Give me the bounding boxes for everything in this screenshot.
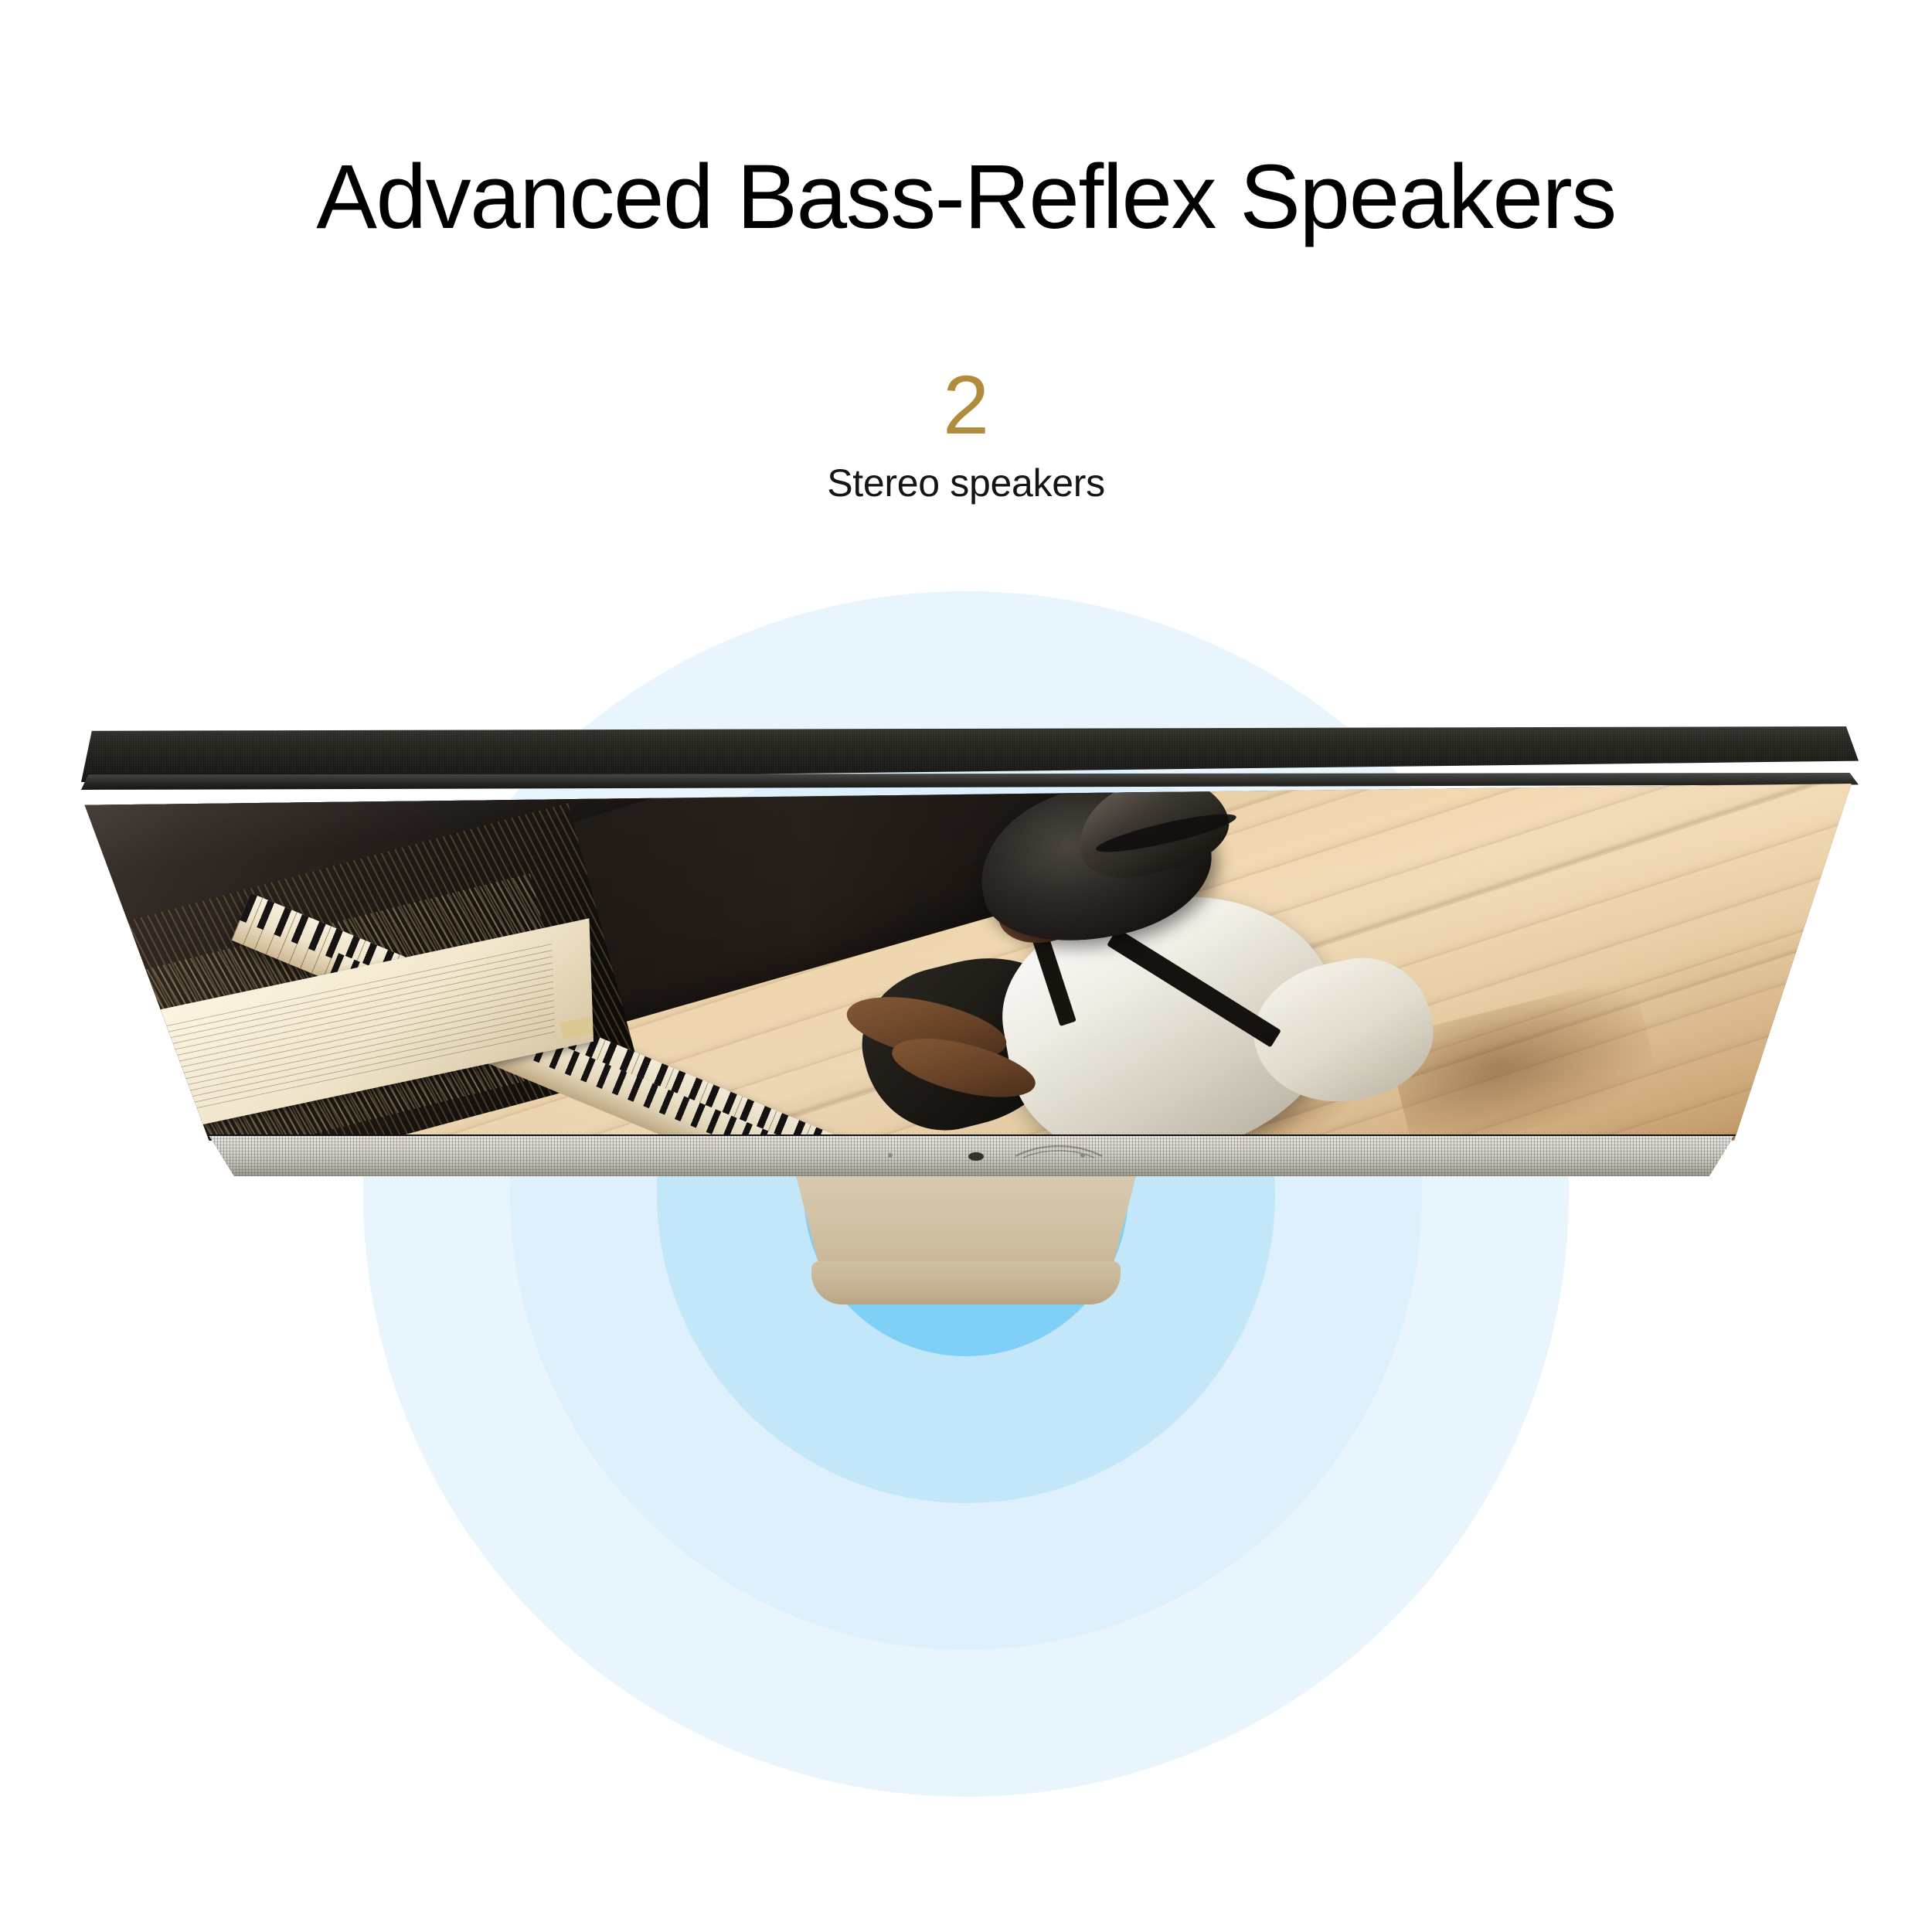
display-screen	[81, 784, 1859, 1141]
power-indicator-icon	[968, 1152, 984, 1161]
microphone-pinhole-right-icon	[1080, 1153, 1085, 1158]
all-in-one-monitor	[0, 0, 1932, 1932]
screen-content-piano-scene	[81, 784, 1859, 1141]
monitor-panel	[81, 726, 1859, 1206]
monitor-stand-foot	[811, 1261, 1121, 1304]
marketing-slide: Advanced Bass-Reflex Speakers 2 Stereo s…	[0, 0, 1932, 1932]
pianist-figure	[81, 784, 1859, 1141]
brand-logo-icon	[1012, 1144, 1105, 1161]
